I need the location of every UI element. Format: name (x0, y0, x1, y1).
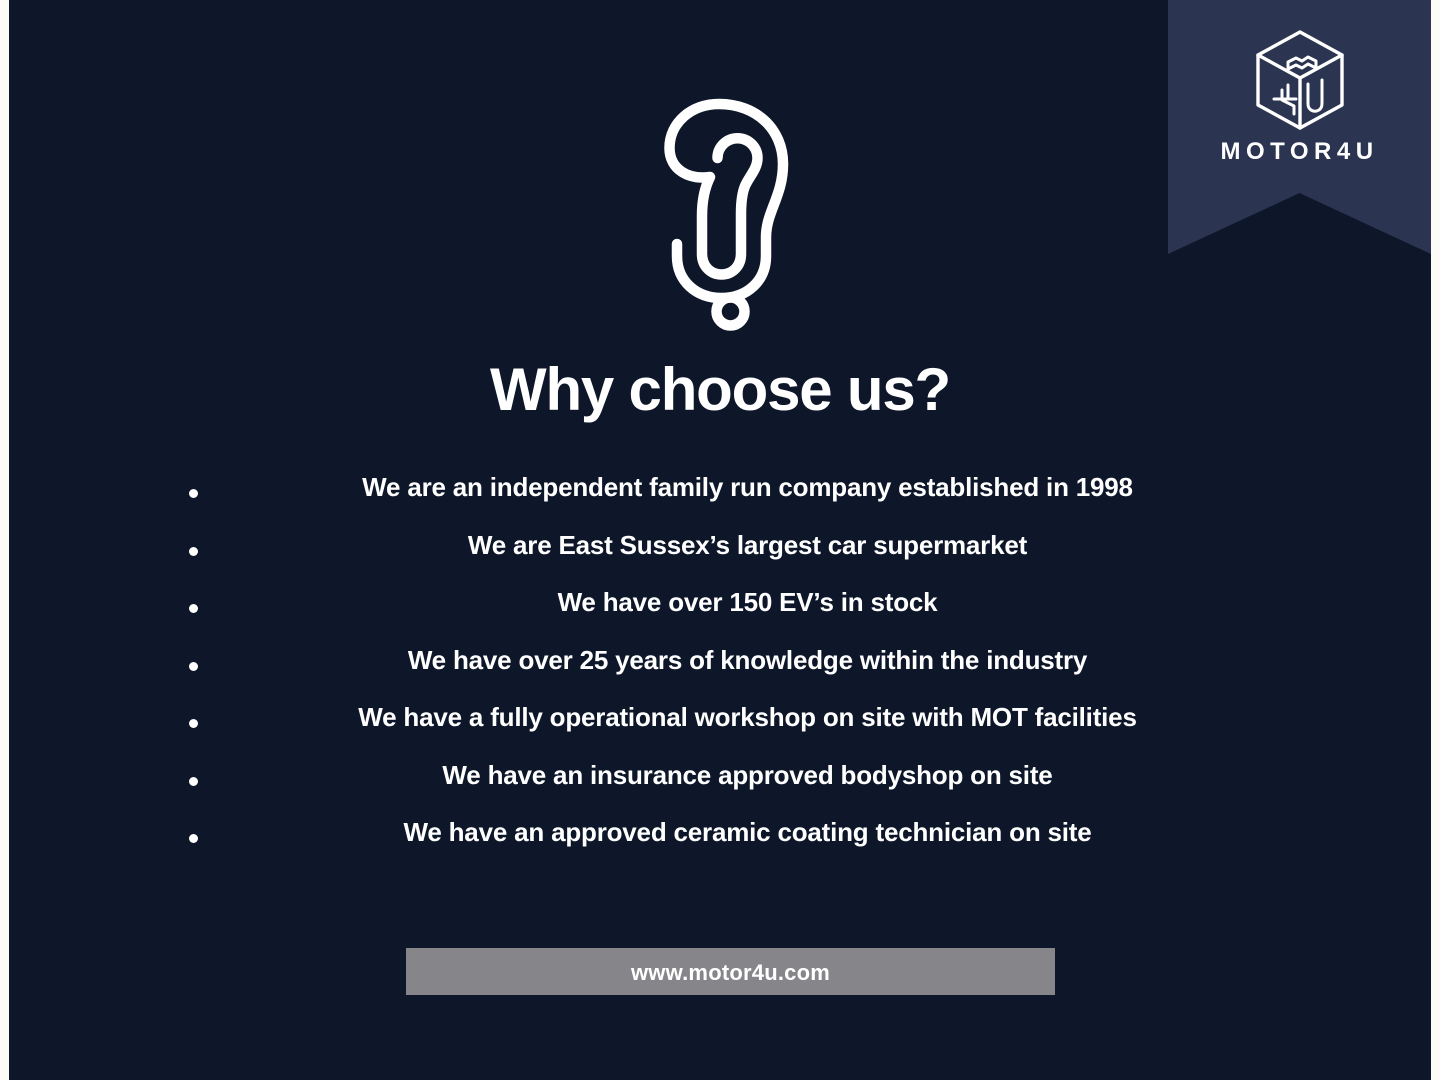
list-item-label: We have an insurance approved bodyshop o… (224, 758, 1271, 792)
slide-canvas: Why choose us? We are an independent fam… (9, 0, 1431, 1080)
list-item: We have over 150 EV’s in stock (9, 585, 1431, 643)
bullet-dot-icon (189, 719, 198, 728)
website-url-label: www.motor4u.com (406, 960, 1055, 986)
brand-wordmark: MOTOR4U (1168, 138, 1431, 166)
bullet-dot-icon (189, 777, 198, 786)
list-item-label: We have over 25 years of knowledge withi… (224, 643, 1271, 677)
list-item: We are an independent family run company… (9, 470, 1431, 528)
benefits-list: We are an independent family run company… (9, 470, 1431, 873)
bullet-dot-icon (189, 604, 198, 613)
list-item-label: We have over 150 EV’s in stock (224, 585, 1271, 619)
page-title: Why choose us? (9, 355, 1431, 424)
right-edge-strip (1431, 0, 1440, 1080)
bullet-dot-icon (189, 834, 198, 843)
slide-root: Why choose us? We are an independent fam… (0, 0, 1440, 1080)
list-item: We have over 25 years of knowledge withi… (9, 643, 1431, 701)
website-banner[interactable]: www.motor4u.com (406, 948, 1055, 995)
bullet-dot-icon (189, 662, 198, 671)
brand-logo-banner: MOTOR4U (1168, 0, 1431, 254)
question-mark-icon (655, 96, 821, 336)
list-item: We have an insurance approved bodyshop o… (9, 758, 1431, 816)
bullet-dot-icon (189, 547, 198, 556)
bullet-dot-icon (189, 489, 198, 498)
list-item: We have an approved ceramic coating tech… (9, 815, 1431, 873)
list-item: We are East Sussex’s largest car superma… (9, 528, 1431, 586)
list-item-label: We are East Sussex’s largest car superma… (224, 528, 1271, 562)
list-item: We have a fully operational workshop on … (9, 700, 1431, 758)
list-item-label: We have a fully operational workshop on … (224, 700, 1271, 734)
m4u-cube-icon (1252, 28, 1348, 132)
list-item-label: We are an independent family run company… (224, 470, 1271, 504)
left-edge-strip (0, 0, 9, 1080)
list-item-label: We have an approved ceramic coating tech… (224, 815, 1271, 849)
